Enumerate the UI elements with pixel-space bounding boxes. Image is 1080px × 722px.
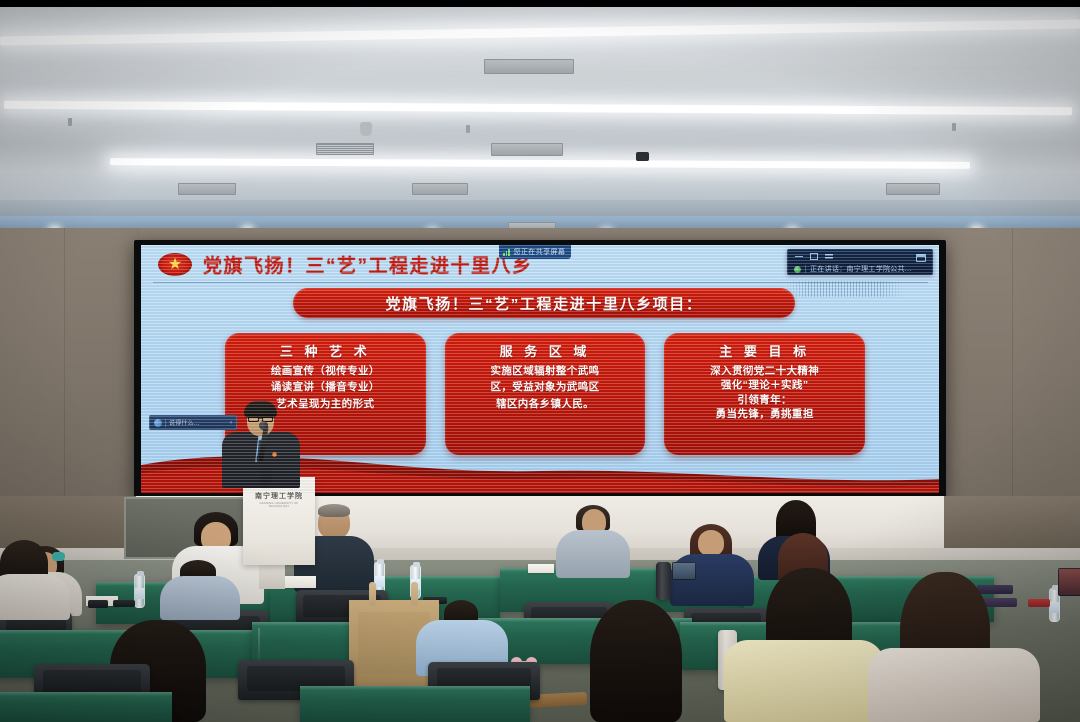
card-line: 深入贯彻党二十大精神: [710, 365, 819, 378]
tote-handle-left: [369, 582, 376, 606]
mini-toolbar-label: 说得什么…: [169, 418, 200, 427]
signal-bars-icon: [503, 249, 510, 256]
card-title: 三 种 艺 术: [280, 341, 371, 360]
notebook-1: [977, 585, 1013, 594]
party-star-emblem-icon: ★: [158, 253, 192, 276]
stage-wall-right-panel: [944, 496, 1080, 554]
card-line: 实施区域辐射整个武鸣: [491, 365, 600, 378]
screen-share-label: 您正在共享屏幕: [514, 247, 566, 257]
screen-share-chip: 您正在共享屏幕: [499, 245, 571, 259]
meeting-floating-window[interactable]: 正在讲话：南宁理工学院公共...: [787, 249, 933, 275]
laptop-screen: [1059, 569, 1080, 595]
ceiling: [0, 0, 1080, 232]
divider: [805, 265, 806, 273]
bottle-label: [1050, 602, 1059, 613]
ceiling-vent-2: [491, 143, 563, 156]
sprinkler-icon-3: [952, 123, 956, 131]
menu-icon[interactable]: [825, 254, 833, 260]
card-title: 主 要 目 标: [719, 341, 810, 360]
card-line: 绘画宣传（视传专业）: [271, 365, 380, 378]
podium-logo-en: NANNING UNIVERSITY OF TECHNOLOGY: [252, 502, 306, 508]
ceiling-vent-3: [178, 183, 236, 195]
ceiling-light-strip-1: [0, 20, 1080, 46]
desk-row3-mid: [300, 686, 530, 722]
ceiling-light-strip-3: [110, 158, 970, 169]
card-body: 深入贯彻党二十大精神 强化“理论＋实践” 引领青年： 勇当先锋，勇挑重担: [673, 365, 856, 422]
card-line: 强化“理论＋实践”: [721, 379, 809, 392]
card-line: 艺术呈现为主的形式: [276, 398, 374, 411]
podium-logo: 南宁理工学院 NANNING UNIVERSITY OF TECHNOLOGY: [252, 491, 306, 508]
speaking-status-text: 正在讲话：南宁理工学院公共...: [810, 264, 912, 274]
sprinkler-icon-2: [466, 125, 470, 133]
bottle-label: [375, 576, 384, 587]
audio-waveform-icon: [785, 281, 903, 297]
card-title: 服 务 区 域: [500, 341, 591, 360]
minimize-icon[interactable]: [795, 256, 803, 258]
laptop-1: [672, 562, 696, 580]
ceiling-vent-1: [484, 59, 574, 74]
microphone-head-icon: [259, 421, 268, 430]
tote-handle-right: [411, 582, 418, 606]
card-line: 辖区内各乡镇人民。: [496, 398, 594, 411]
participant-avatar-icon: [154, 419, 162, 427]
phone-1: [88, 600, 108, 608]
speaker-lapel-pin-icon: [272, 452, 277, 457]
speaking-indicator-icon: [794, 266, 801, 273]
window-controls: [795, 253, 833, 260]
podium: 南宁理工学院 NANNING UNIVERSITY OF TECHNOLOGY: [243, 477, 315, 565]
speaking-status-row: 正在讲话：南宁理工学院公共...: [794, 264, 912, 274]
conference-hall-scene: ★ 党旗飞扬！三“艺”工程走进十里八乡 您正在共享屏幕: [0, 0, 1080, 722]
laptop-screen: [673, 563, 695, 579]
layout-view-icon[interactable]: [916, 254, 926, 262]
chevron-right-icon[interactable]: ›: [230, 420, 232, 426]
ceiling-vent-5: [886, 183, 940, 195]
bottle-cap: [377, 559, 384, 564]
laptop-2: [1058, 568, 1080, 596]
ceiling-speaker-icon: [636, 152, 649, 161]
podium-stem: [259, 563, 285, 589]
card-body: 实施区域辐射整个武鸣 区，受益对象为武鸣区 辖区内各乡镇人民。: [454, 365, 637, 411]
bottle-label: [135, 588, 144, 599]
ceiling-vent-grille: [316, 143, 374, 155]
meeting-mini-toolbar[interactable]: 说得什么… ›: [149, 415, 237, 430]
notebook-3: [1028, 599, 1050, 607]
papers-3: [528, 564, 554, 573]
chair-back: [43, 670, 140, 694]
slide-title: 党旗飞扬！三“艺”工程走进十里八乡: [203, 251, 533, 278]
card-line: 引领青年：: [737, 394, 792, 407]
slide-banner-text: 党旗飞扬！三“艺”工程走进十里八乡项目：: [385, 293, 702, 314]
divider: [165, 419, 166, 427]
podium-logo-cn: 南宁理工学院: [252, 491, 306, 501]
water-bottle-1: [134, 574, 145, 608]
card-line: 区，受益对象为武鸣区: [491, 381, 600, 394]
bottle-cap: [137, 571, 144, 576]
thermos-dark: [656, 562, 671, 600]
maximize-icon[interactable]: [810, 253, 818, 260]
ceiling-camera-icon: [360, 122, 372, 136]
star-glyph: ★: [168, 257, 182, 273]
ceiling-vent-4: [412, 183, 468, 195]
image-top-border: [0, 0, 1080, 7]
bottle-cap: [413, 562, 420, 567]
slide-banner: 党旗飞扬！三“艺”工程走进十里八乡项目：: [293, 288, 795, 318]
ceiling-light-strip-2: [4, 101, 1072, 116]
card-line: 勇当先锋，勇挑重担: [716, 408, 814, 421]
sprinkler-icon-1: [68, 118, 72, 126]
phone-2: [113, 600, 135, 607]
card-line: 诵读宣讲（播音专业）: [271, 381, 380, 394]
desk-row3-left: [0, 692, 172, 722]
